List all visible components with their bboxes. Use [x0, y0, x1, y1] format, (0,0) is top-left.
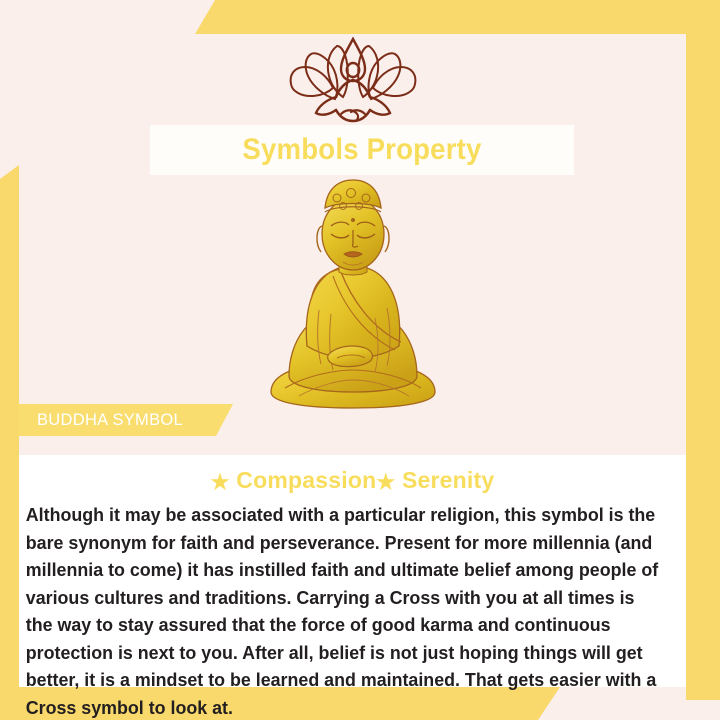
star-icon-left: ★ [211, 471, 230, 494]
buddha-illustration [19, 176, 686, 414]
decor-band-left [0, 165, 19, 695]
buddha-symbol-ribbon: BUDDHA SYMBOL [19, 404, 233, 436]
poster-root: BUDDHA STONES Symbols Property [0, 0, 720, 720]
content-paragraph: Although it may be associated with a par… [19, 501, 666, 720]
page-title: Symbols Property [242, 133, 481, 167]
lotus-meditation-icon [19, 36, 686, 133]
content-card: ★ Compassion★ Serenity Although it may b… [19, 455, 686, 687]
golden-seated-buddha-icon [255, 178, 451, 414]
upper-panel: BUDDHA STONES Symbols Property [19, 34, 686, 455]
ribbon-label: BUDDHA SYMBOL [37, 411, 183, 430]
decor-band-right [686, 0, 720, 700]
title-plate: Symbols Property [150, 125, 574, 175]
headline-word-compassion: Compassion [236, 467, 376, 493]
content-headline: ★ Compassion★ Serenity [19, 467, 686, 495]
headline-word-serenity: Serenity [402, 467, 494, 493]
decor-band-top [195, 0, 720, 34]
star-icon-right: ★ [376, 471, 395, 494]
